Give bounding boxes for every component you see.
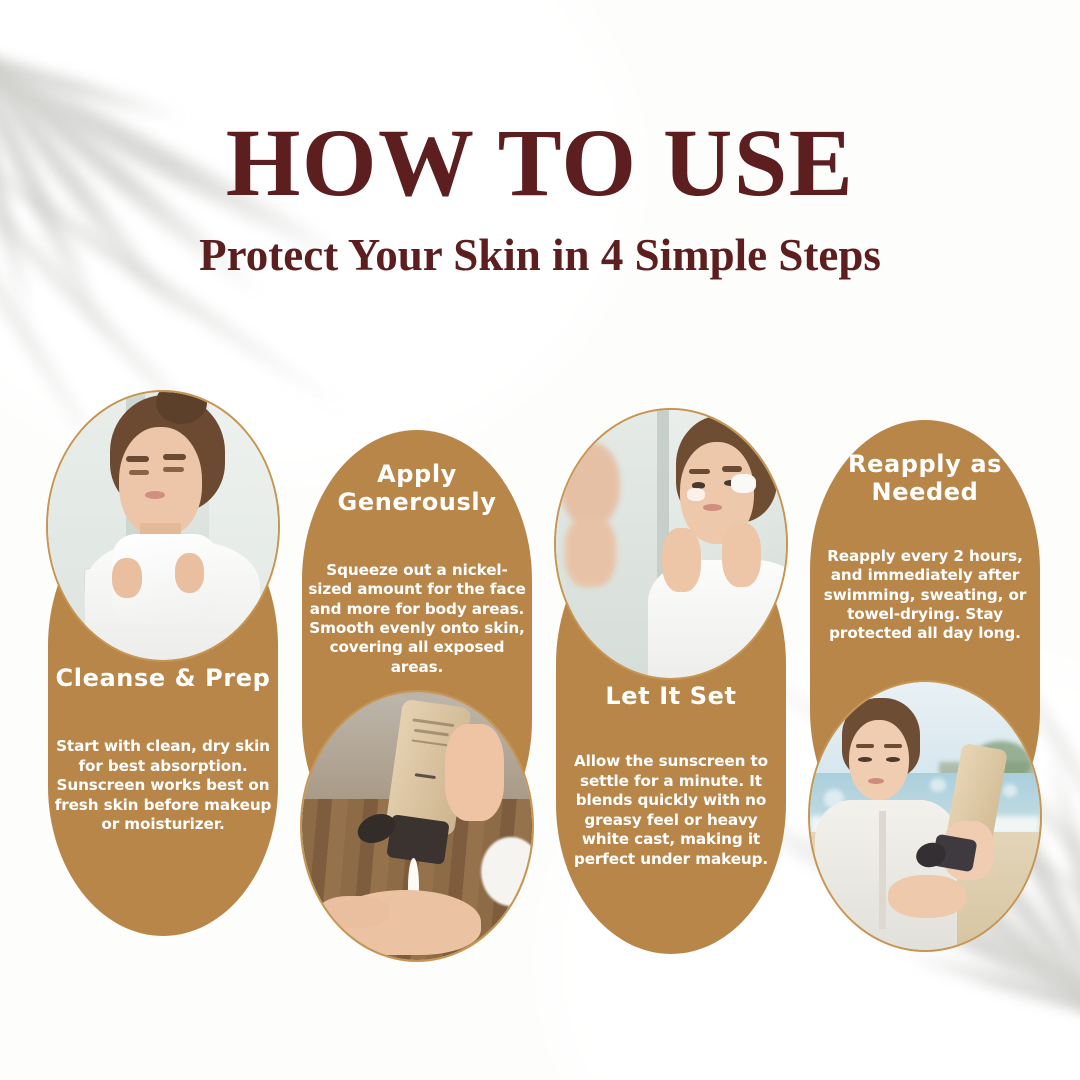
step-card-1-body: Start with clean, dry skin for best abso… bbox=[48, 737, 278, 834]
step-card-3-body: Allow the sunscreen to settle for a minu… bbox=[556, 752, 786, 869]
photo-beach-reapply bbox=[810, 682, 1040, 950]
step-card-3-text: Let It Set Allow the sunscreen to settle… bbox=[556, 682, 786, 869]
step-card-2-heading: Apply Generously bbox=[302, 460, 532, 517]
step-card-2-body: Squeeze out a nickel-sized amount for th… bbox=[302, 561, 532, 678]
step-card-2-photo bbox=[302, 692, 532, 960]
step-card-1-heading: Cleanse & Prep bbox=[48, 664, 278, 692]
step-card-4-text: Reapply as Needed Reapply every 2 hours,… bbox=[810, 450, 1040, 644]
page-subtitle: Protect Your Skin in 4 Simple Steps bbox=[0, 212, 1080, 279]
step-card-4-body: Reapply every 2 hours, and immediately a… bbox=[810, 547, 1040, 644]
photo-applying-cream-mirror bbox=[556, 410, 786, 678]
step-card-1-photo bbox=[48, 392, 278, 660]
step-card-4-photo bbox=[810, 682, 1040, 950]
step-card-3-heading: Let It Set bbox=[556, 682, 786, 710]
header: HOW TO USE Protect Your Skin in 4 Simple… bbox=[0, 0, 1080, 279]
step-card-4-heading: Reapply as Needed bbox=[810, 450, 1040, 507]
step-card-2-text: Apply Generously Squeeze out a nickel-si… bbox=[302, 460, 532, 677]
step-card-3-photo bbox=[556, 410, 786, 678]
step-card-1-text: Cleanse & Prep Start with clean, dry ski… bbox=[48, 664, 278, 835]
photo-woman-drying-face bbox=[48, 392, 278, 660]
page-title: HOW TO USE bbox=[0, 0, 1080, 212]
photo-dispensing-sunscreen bbox=[302, 692, 532, 960]
